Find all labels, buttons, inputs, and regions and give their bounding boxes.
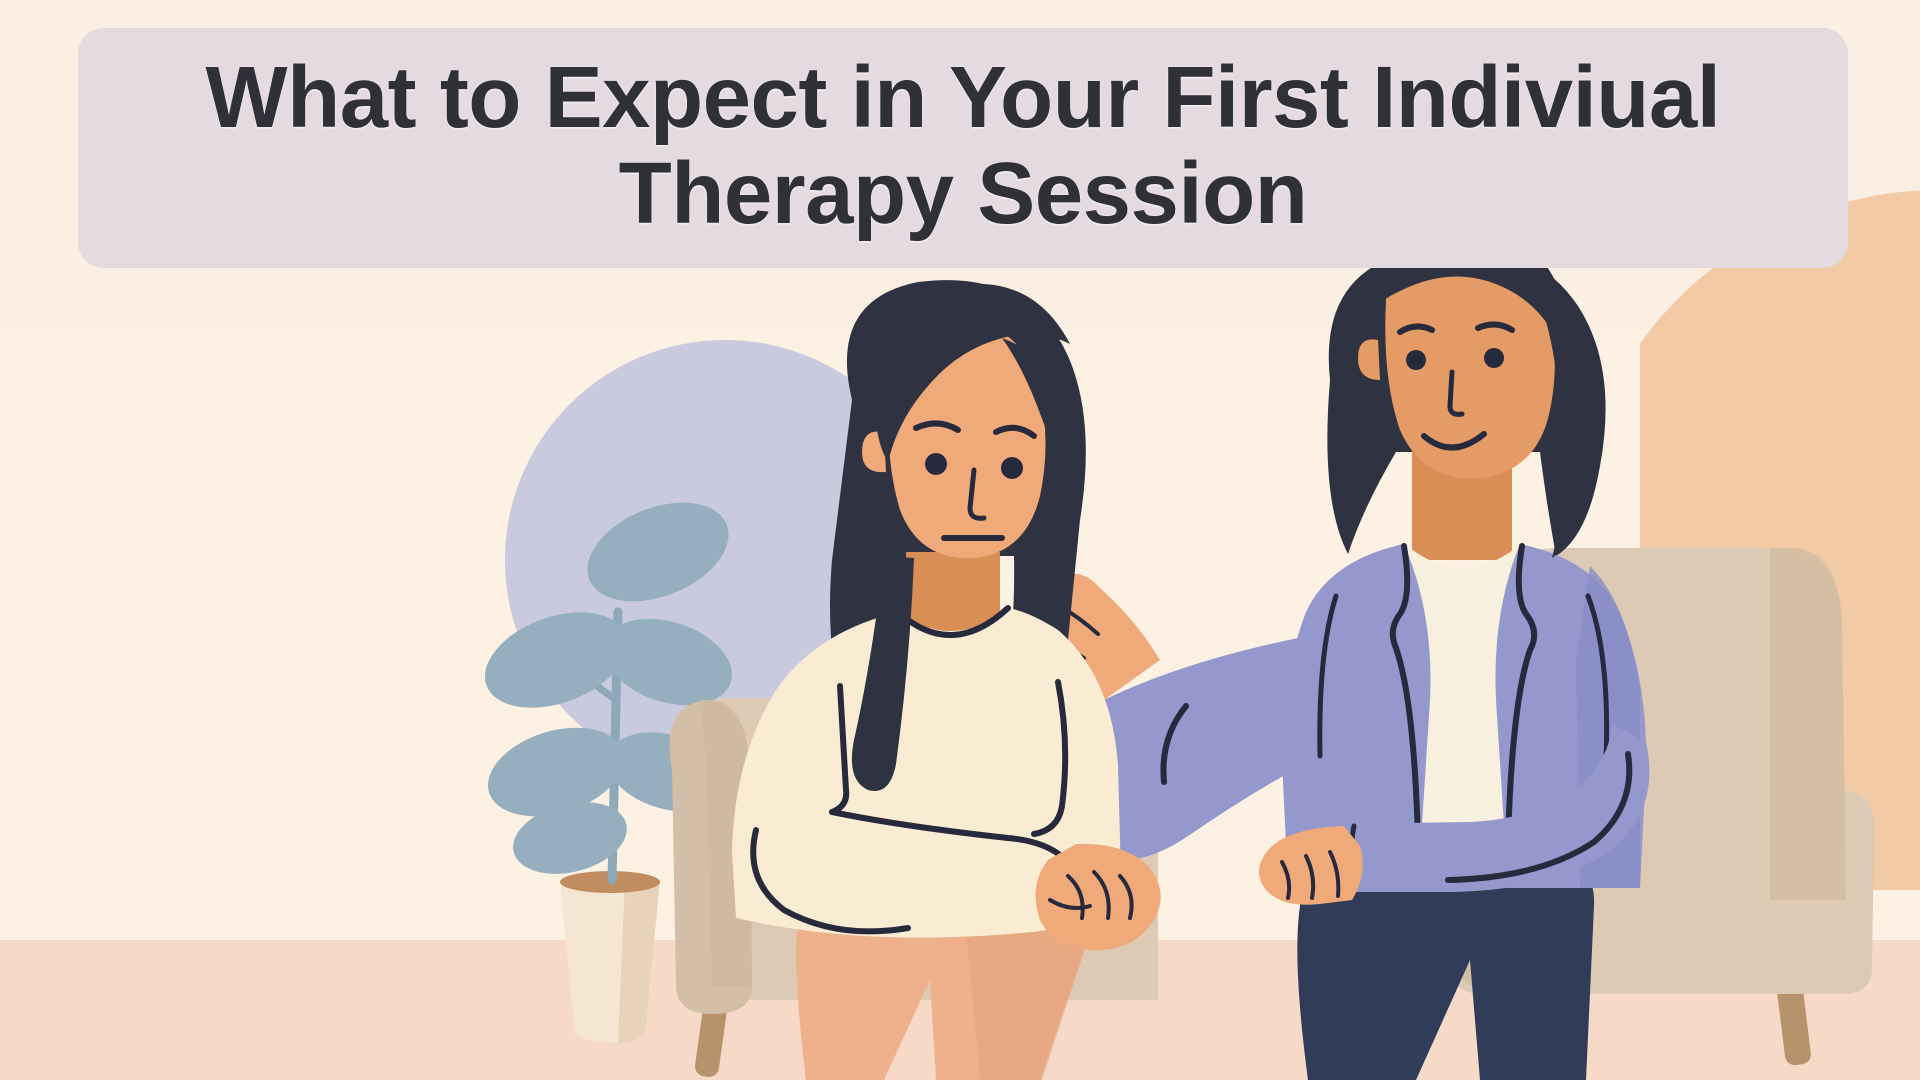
page-title: What to Expect in Your First Indiviual T… — [206, 50, 1721, 241]
illustration-banner: What to Expect in Your First Indiviual T… — [0, 0, 1920, 1080]
title-banner: What to Expect in Your First Indiviual T… — [78, 28, 1848, 268]
